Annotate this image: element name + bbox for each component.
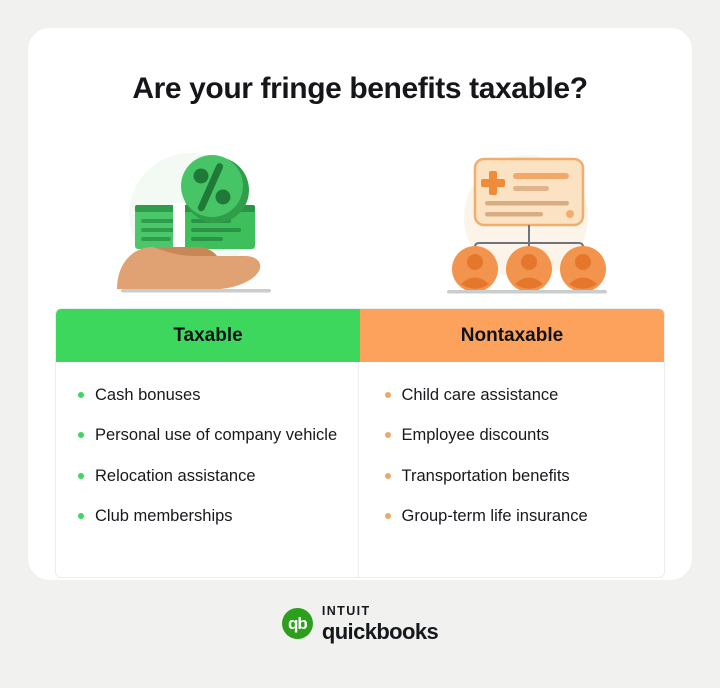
bullet-icon	[78, 513, 84, 519]
page-title: Are your fringe benefits taxable?	[28, 72, 692, 106]
brand-wordmark: INTUIT quickbooks	[322, 605, 438, 643]
list-item: Child care assistance	[385, 384, 645, 407]
quickbooks-logo-icon: qb	[282, 608, 313, 639]
list-item: Employee discounts	[385, 424, 645, 447]
list-item: Relocation assistance	[78, 465, 338, 488]
illustration-nontaxable	[360, 140, 692, 305]
illustration-taxable	[28, 140, 360, 305]
list-item-label: Group-term life insurance	[402, 505, 588, 528]
list-item-label: Relocation assistance	[95, 465, 256, 488]
list-item: Cash bonuses	[78, 384, 338, 407]
column-header-nontaxable: Nontaxable	[360, 309, 664, 362]
bullet-icon	[385, 473, 391, 479]
list-item-label: Employee discounts	[402, 424, 550, 447]
table-header-row: Taxable Nontaxable	[56, 309, 664, 362]
list-item: Club memberships	[78, 505, 338, 528]
list-item: Personal use of company vehicle	[78, 424, 338, 447]
avatar-group	[452, 246, 606, 292]
infographic-page: Are your fringe benefits taxable?	[0, 0, 720, 688]
brand-intuit-label: INTUIT	[322, 605, 438, 618]
column-header-taxable: Taxable	[56, 309, 360, 362]
brand-footer: qb INTUIT quickbooks	[0, 605, 720, 643]
table-body: Cash bonuses Personal use of company veh…	[56, 362, 664, 577]
bullet-icon	[385, 513, 391, 519]
list-item-label: Transportation benefits	[402, 465, 570, 488]
bullet-icon	[385, 392, 391, 398]
benefits-table: Taxable Nontaxable Cash bonuses Personal…	[55, 308, 665, 578]
benefits-card-with-employees-icon	[431, 143, 621, 303]
taxable-list: Cash bonuses Personal use of company veh…	[56, 362, 358, 577]
list-item-label: Child care assistance	[402, 384, 559, 407]
list-item-label: Cash bonuses	[95, 384, 201, 407]
brand-quickbooks-label: quickbooks	[322, 621, 438, 643]
list-item-label: Club memberships	[95, 505, 233, 528]
list-item-label: Personal use of company vehicle	[95, 424, 337, 447]
nontaxable-list: Child care assistance Employee discounts…	[358, 362, 665, 577]
bullet-icon	[385, 432, 391, 438]
illustration-row	[28, 140, 692, 305]
bullet-icon	[78, 432, 84, 438]
list-item: Group-term life insurance	[385, 505, 645, 528]
bullet-icon	[78, 392, 84, 398]
list-item: Transportation benefits	[385, 465, 645, 488]
bullet-icon	[78, 473, 84, 479]
infographic-card: Are your fringe benefits taxable?	[28, 28, 692, 580]
hand-holding-cash-with-percent-coin-icon	[99, 143, 289, 303]
